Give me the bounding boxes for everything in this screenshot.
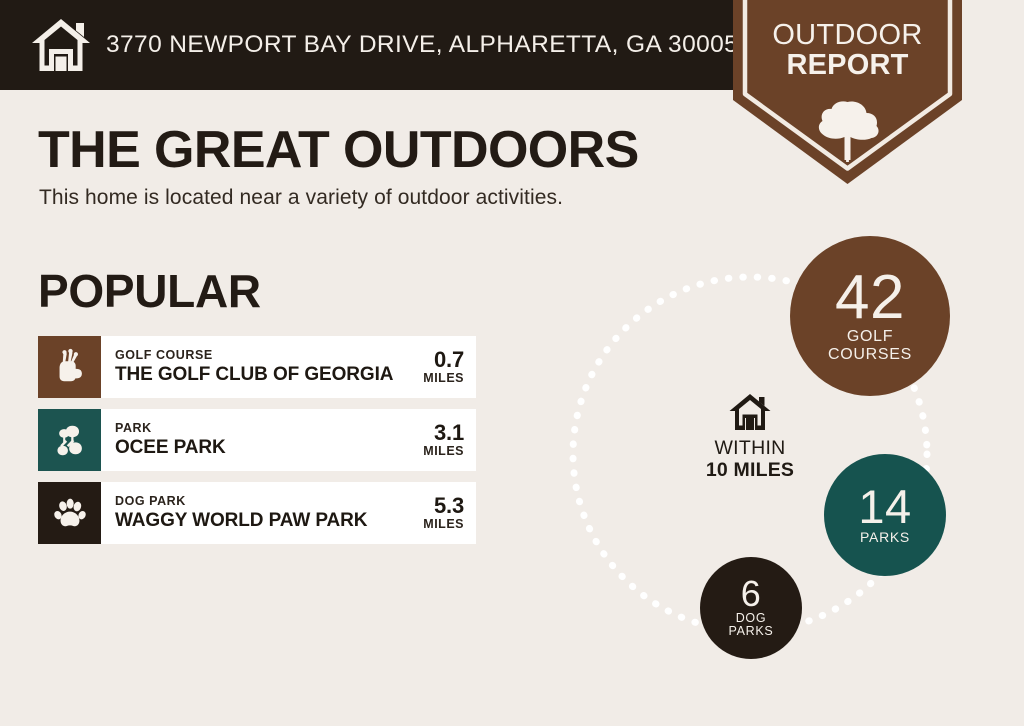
stat-bubble-golf-courses[interactable]: 42 GOLF COURSES	[790, 236, 950, 396]
page-subtitle: This home is located near a variety of o…	[39, 186, 563, 210]
poi-distance-unit: MILES	[423, 517, 464, 532]
poi-category: DOG PARK	[115, 494, 367, 510]
header-address: 3770 NEWPORT BAY DRIVE, ALPHARETTA, GA 3…	[106, 31, 738, 59]
poi-icon-tile	[38, 482, 101, 544]
outdoor-report-badge: OUTDOOR REPORT	[733, 0, 962, 184]
section-title-popular: POPULAR	[38, 268, 261, 314]
poi-distance-unit: MILES	[423, 444, 464, 459]
within-10-miles-diagram: 42 GOLF COURSES 14 PARKS 6 DOG PARKS WIT…	[540, 232, 1010, 682]
header-bar: 3770 NEWPORT BAY DRIVE, ALPHARETTA, GA 3…	[0, 0, 741, 90]
badge-line-2: REPORT	[733, 50, 962, 80]
list-item[interactable]: DOG PARK WAGGY WORLD PAW PARK 5.3 MILES	[38, 482, 476, 544]
golf-bag-icon	[51, 348, 89, 386]
home-icon	[30, 16, 92, 74]
badge-text: OUTDOOR REPORT	[733, 20, 962, 80]
list-item[interactable]: PARK OCEE PARK 3.1 MILES	[38, 409, 476, 471]
poi-body: PARK OCEE PARK 3.1 MILES	[101, 409, 476, 471]
poi-distance: 0.7 MILES	[415, 348, 464, 386]
list-item[interactable]: GOLF COURSE THE GOLF CLUB OF GEORGIA 0.7…	[38, 336, 476, 398]
poi-names: DOG PARK WAGGY WORLD PAW PARK	[115, 494, 367, 531]
poi-distance-value: 0.7	[423, 348, 464, 371]
poi-category: GOLF COURSE	[115, 348, 393, 364]
stat-bubble-parks[interactable]: 14 PARKS	[824, 454, 946, 576]
stat-value: 42	[835, 269, 905, 326]
paw-print-icon	[52, 495, 88, 531]
poi-distance: 3.1 MILES	[415, 421, 464, 459]
infographic-canvas: 3770 NEWPORT BAY DRIVE, ALPHARETTA, GA 3…	[0, 0, 1024, 726]
stat-label-line-2: PARKS	[729, 625, 774, 639]
stat-label-line-1: DOG	[736, 612, 767, 626]
poi-distance-unit: MILES	[423, 371, 464, 386]
stat-bubble-dog-parks[interactable]: 6 DOG PARKS	[700, 557, 802, 659]
center-label-line-2: 10 MILES	[706, 459, 794, 481]
center-label-line-1: WITHIN	[714, 437, 785, 459]
poi-names: GOLF COURSE THE GOLF CLUB OF GEORGIA	[115, 348, 393, 385]
center-stat: WITHIN 10 MILES	[680, 392, 820, 482]
poi-name: OCEE PARK	[115, 437, 226, 459]
stat-label-line-1: GOLF	[847, 328, 893, 345]
badge-line-1: OUTDOOR	[733, 20, 962, 50]
poi-name: WAGGY WORLD PAW PARK	[115, 510, 367, 532]
stat-value: 14	[858, 485, 911, 528]
trees-icon	[51, 421, 89, 459]
home-icon	[728, 392, 772, 437]
stat-value: 6	[741, 577, 762, 610]
poi-icon-tile	[38, 409, 101, 471]
poi-body: DOG PARK WAGGY WORLD PAW PARK 5.3 MILES	[101, 482, 476, 544]
poi-distance-value: 3.1	[423, 421, 464, 444]
poi-distance-value: 5.3	[423, 494, 464, 517]
poi-name: THE GOLF CLUB OF GEORGIA	[115, 364, 393, 386]
stat-label-line-1: PARKS	[860, 530, 910, 545]
poi-category: PARK	[115, 421, 226, 437]
poi-names: PARK OCEE PARK	[115, 421, 226, 458]
poi-body: GOLF COURSE THE GOLF CLUB OF GEORGIA 0.7…	[101, 336, 476, 398]
stat-label-line-2: COURSES	[828, 346, 912, 363]
poi-icon-tile	[38, 336, 101, 398]
poi-distance: 5.3 MILES	[415, 494, 464, 532]
popular-list: GOLF COURSE THE GOLF CLUB OF GEORGIA 0.7…	[38, 336, 476, 555]
page-title: THE GREAT OUTDOORS	[38, 124, 639, 176]
